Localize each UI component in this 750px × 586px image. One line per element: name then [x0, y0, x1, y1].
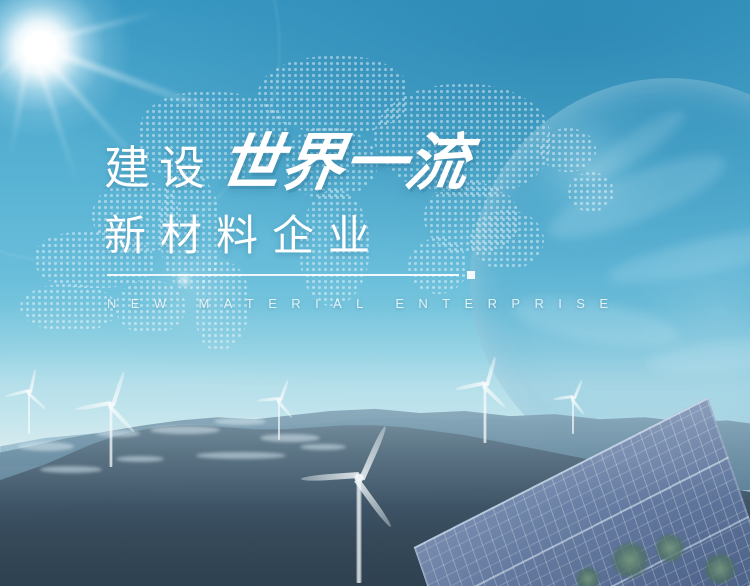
headline-subline: 新材料企业 [104, 215, 384, 257]
hero-banner: 建设 世界一流 新材料企业 NEW MATERIAL ENTERPRISE [0, 0, 750, 586]
headline-emphasis: 世界一流 [215, 133, 473, 195]
headline-prefix: 建设 [104, 145, 214, 191]
headline: 建设 世界一流 [104, 133, 468, 195]
divider [107, 271, 475, 279]
banner-copy: 建设 世界一流 新材料企业 NEW MATERIAL ENTERPRISE [0, 0, 750, 586]
divider-end-square [467, 271, 475, 279]
english-tagline: NEW MATERIAL ENTERPRISE [107, 297, 622, 310]
divider-line [107, 274, 459, 276]
